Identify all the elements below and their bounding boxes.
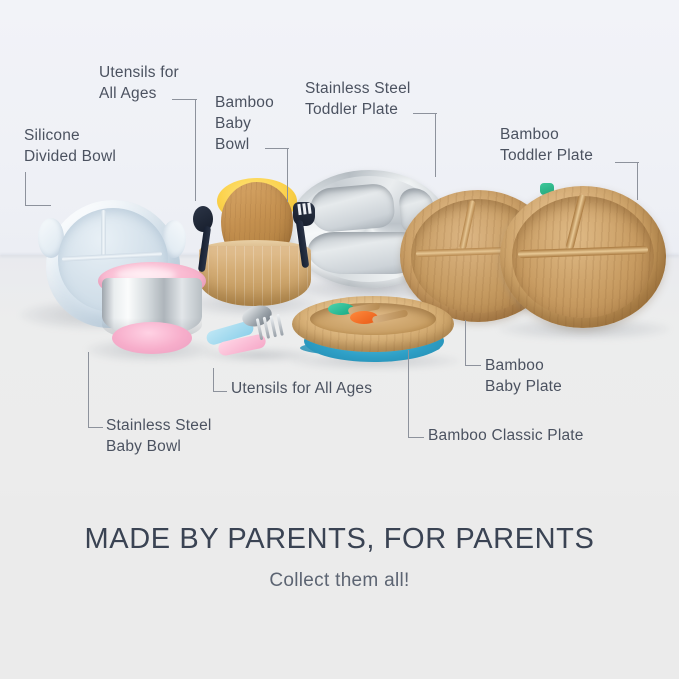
leader-line-utensils-all-ages-top	[172, 99, 202, 203]
footer-headline: MADE BY PARENTS, FOR PARENTS	[0, 523, 679, 556]
product-utensils-all-ages	[206, 300, 310, 362]
navy-fork-icon	[293, 202, 315, 264]
navy-spoon-icon	[193, 206, 213, 268]
product-stainless-steel-baby-bowl	[96, 262, 208, 357]
leader-line-bamboo-baby-plate	[465, 320, 489, 368]
silicone-bowl-divider-vertical	[101, 210, 106, 258]
steel-baby-bowl-pink-suction-base	[112, 322, 192, 354]
leader-line-utensils-all-ages-bottom	[213, 368, 235, 394]
callout-label-bamboo-baby-plate: Bamboo Baby Plate	[485, 355, 562, 397]
product-bamboo-toddler-plate-front	[500, 186, 666, 332]
callout-label-bamboo-classic-plate: Bamboo Classic Plate	[428, 425, 584, 446]
leader-line-stainless-steel-baby-bowl	[88, 352, 112, 430]
orange-spoon-icon	[350, 310, 402, 325]
callout-label-utensils-all-ages-bottom: Utensils for All Ages	[231, 378, 372, 399]
product-lineup-image: Silicone Divided Bowl Utensils for All A…	[0, 0, 679, 679]
callout-label-stainless-steel-toddler-plate: Stainless Steel Toddler Plate	[305, 78, 411, 120]
navy-fork-handle	[296, 220, 310, 269]
pink-fork-head	[254, 313, 286, 342]
callout-label-utensils-all-ages-top: Utensils for All Ages	[99, 62, 179, 104]
leader-line-bamboo-baby-bowl	[265, 148, 295, 204]
footer-subheadline: Collect them all!	[0, 570, 679, 592]
callout-label-bamboo-toddler-plate: Bamboo Toddler Plate	[500, 124, 593, 166]
product-bamboo-baby-bowl	[195, 178, 315, 308]
callout-label-stainless-steel-baby-bowl: Stainless Steel Baby Bowl	[106, 415, 212, 457]
leader-line-stainless-steel-toddler-plate	[413, 113, 443, 179]
leader-line-silicone-divided-bowl	[25, 172, 55, 208]
leader-line-bamboo-toddler-plate	[615, 162, 645, 202]
callout-label-silicone-divided-bowl: Silicone Divided Bowl	[24, 125, 116, 167]
steel-plate-section-large	[308, 182, 396, 233]
leader-line-bamboo-classic-plate	[408, 350, 432, 440]
callout-label-bamboo-baby-bowl: Bamboo Baby Bowl	[215, 92, 274, 155]
